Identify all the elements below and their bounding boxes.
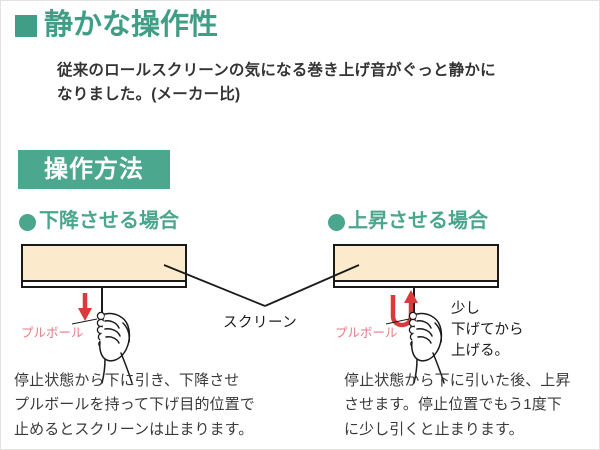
filled-circle-icon — [19, 214, 36, 231]
raise-side-note: 少し 下げてから 上げる。 — [451, 299, 524, 362]
pullball-label-raise: プルボール — [335, 322, 398, 341]
page-title: 静かな操作性 — [44, 11, 218, 40]
screen-callout-label: スクリーン — [223, 311, 297, 332]
section-heading-lower-label: 下降させる場合 — [39, 211, 179, 231]
page-header: 静かな操作性 — [15, 11, 218, 40]
roller-screen-illustration-raise — [333, 244, 499, 288]
section-heading-lower: 下降させる場合 — [19, 211, 179, 231]
arrow-down-icon — [78, 293, 92, 321]
bottom-rail — [21, 280, 187, 288]
screen-leader-lines — [164, 265, 359, 306]
section-heading-raise: 上昇させる場合 — [328, 211, 488, 231]
screen-fabric — [21, 244, 187, 280]
section-heading-raise-label: 上昇させる場合 — [348, 211, 488, 231]
bottom-rail — [333, 280, 499, 288]
pull-ball-chain-raise — [409, 312, 417, 347]
filled-circle-icon — [328, 214, 345, 231]
screen-fabric — [333, 244, 499, 280]
lead-paragraph: 従来のロールスクリーンの気になる巻き上げ音がぐっと静かに なりました。(メーカー… — [57, 59, 557, 107]
body-text-raise: 停止状態から下に引いた後、上昇 させます。停止位置でもう1度下 に少し引くと止ま… — [344, 369, 600, 442]
body-text-lower: 停止状態から下に引き、下降させ プルボールを持って下げ目的位置で 止めるとスクリ… — [14, 369, 314, 442]
operation-method-ribbon: 操作方法 — [18, 150, 170, 189]
page-root: 静かな操作性 従来のロールスクリーンの気になる巻き上げ音がぐっと静かに なりまし… — [0, 0, 600, 450]
pullball-label-lower: プルボール — [21, 322, 84, 341]
pull-chain-cord-lower — [101, 288, 103, 315]
roller-screen-illustration-lower — [21, 244, 187, 288]
pull-chain-cord-raise — [413, 288, 415, 315]
filled-square-icon — [15, 15, 37, 37]
pull-ball-chain-lower — [97, 312, 105, 347]
ribbon-label: 操作方法 — [44, 158, 144, 182]
